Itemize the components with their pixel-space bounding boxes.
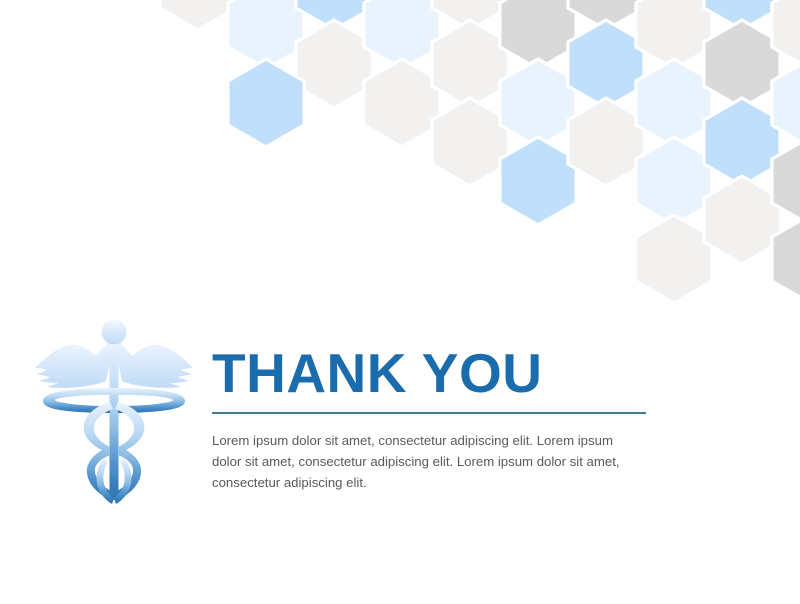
hexagon-tile <box>772 137 800 225</box>
hexagon-tile <box>704 20 780 108</box>
body-paragraph: Lorem ipsum dolor sit amet, consectetur … <box>212 430 630 493</box>
hexagon-tile <box>500 59 576 147</box>
caduceus-staff <box>110 344 119 500</box>
hexagon-tile <box>228 0 304 69</box>
hexagon-tile <box>432 20 508 108</box>
hexagon-tile <box>772 59 800 147</box>
hexagon-tile <box>636 137 712 225</box>
caduceus-orb <box>102 320 127 345</box>
hexagon-tile <box>500 137 576 225</box>
hexagon-tile <box>364 0 440 69</box>
title-divider-rule <box>212 412 646 414</box>
hexagon-tile <box>772 0 800 69</box>
hexagon-tile <box>296 20 372 108</box>
hexagon-tile <box>704 98 780 186</box>
hexagon-tile <box>568 0 644 30</box>
hexagon-pattern-decoration <box>0 0 800 360</box>
hexagon-tile <box>636 0 712 69</box>
hexagon-tile <box>432 98 508 186</box>
hexagon-tile <box>364 59 440 147</box>
hexagon-tile <box>772 215 800 303</box>
hexagon-tile <box>160 0 236 30</box>
hexagon-tile <box>704 0 780 30</box>
hexagon-tile <box>704 176 780 264</box>
slide-canvas: THANK YOU Lorem ipsum dolor sit amet, co… <box>0 0 800 604</box>
hexagon-tile <box>500 0 576 69</box>
hexagon-tile <box>568 20 644 108</box>
hexagon-tile <box>636 215 712 303</box>
hexagon-tile <box>228 59 304 147</box>
hexagon-tile <box>636 59 712 147</box>
caduceus-medical-icon <box>34 318 194 508</box>
text-block: THANK YOU Lorem ipsum dolor sit amet, co… <box>212 344 652 493</box>
hexagon-tile <box>296 0 372 30</box>
hexagon-tile <box>568 98 644 186</box>
hexagon-tile <box>432 0 508 30</box>
page-title: THANK YOU <box>212 344 652 402</box>
